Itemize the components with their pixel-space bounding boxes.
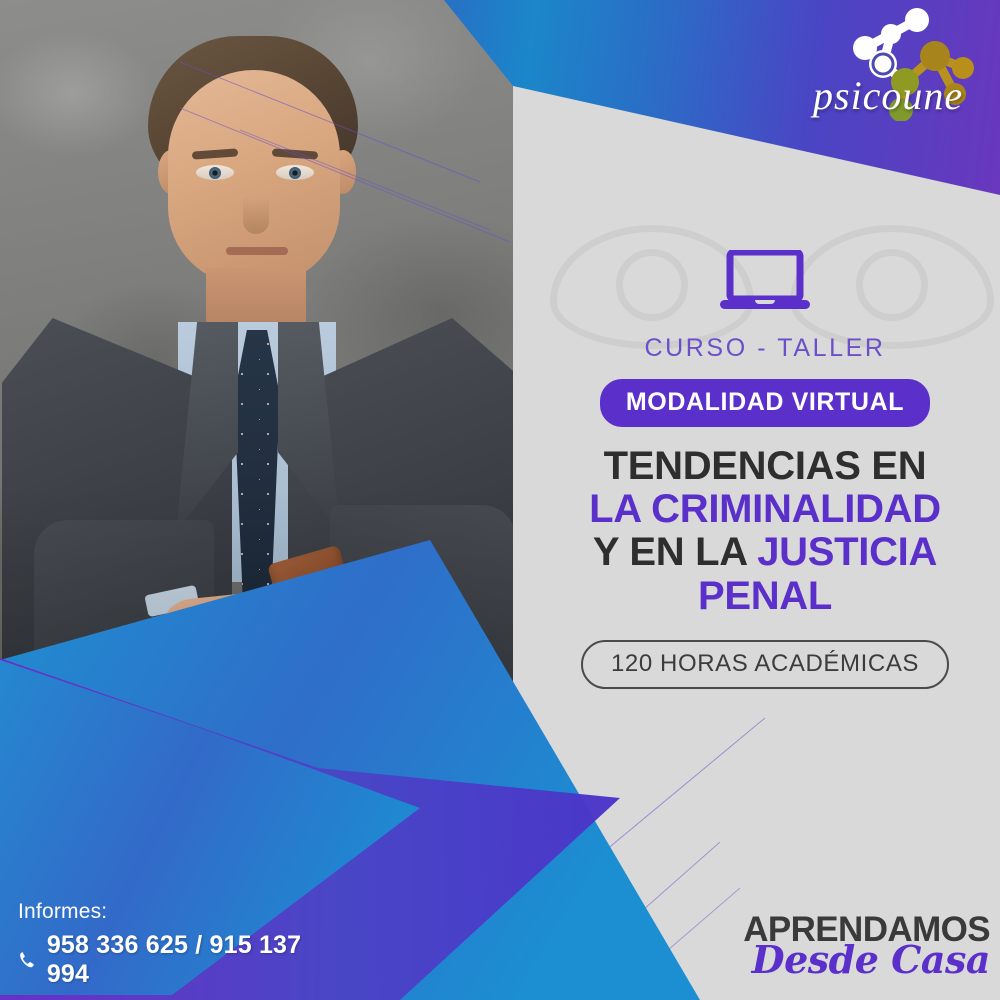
title-line-3-plain: Y EN LA (593, 530, 757, 574)
modality-badge: MODALIDAD VIRTUAL (600, 379, 930, 427)
phone-icon (18, 950, 38, 970)
laptop-icon (719, 250, 811, 312)
title-line-2: LA CRIMINALIDAD (545, 488, 985, 531)
contact-label: Informes: (18, 900, 348, 924)
contact-phone-row[interactable]: 958 336 625 / 915 137 994 (18, 931, 348, 989)
hours-pill: 120 HORAS ACADÉMICAS (581, 640, 949, 689)
title-line-3: Y EN LA JUSTICIA (545, 531, 985, 574)
title-line-4: PENAL (545, 575, 985, 618)
brand-logo-text: psicoune (813, 72, 993, 119)
contact-phones: 958 336 625 / 915 137 994 (47, 931, 348, 989)
course-info-panel: CURSO - TALLER MODALIDAD VIRTUAL TENDENC… (545, 250, 985, 689)
contact-block: Informes: 958 336 625 / 915 137 994 www.… (18, 900, 348, 1000)
title-line-1: TENDENCIAS EN (545, 445, 985, 488)
brand-logo[interactable]: psicoune (805, 6, 995, 121)
course-title: TENDENCIAS EN LA CRIMINALIDAD Y EN LA JU… (545, 445, 985, 618)
course-eyebrow: CURSO - TALLER (545, 334, 985, 363)
tagline-block: APRENDAMOS Desde Casa (700, 912, 990, 979)
flyer-canvas: psicoune CURS (0, 0, 1000, 1000)
title-line-3-highlight: JUSTICIA (757, 530, 937, 574)
